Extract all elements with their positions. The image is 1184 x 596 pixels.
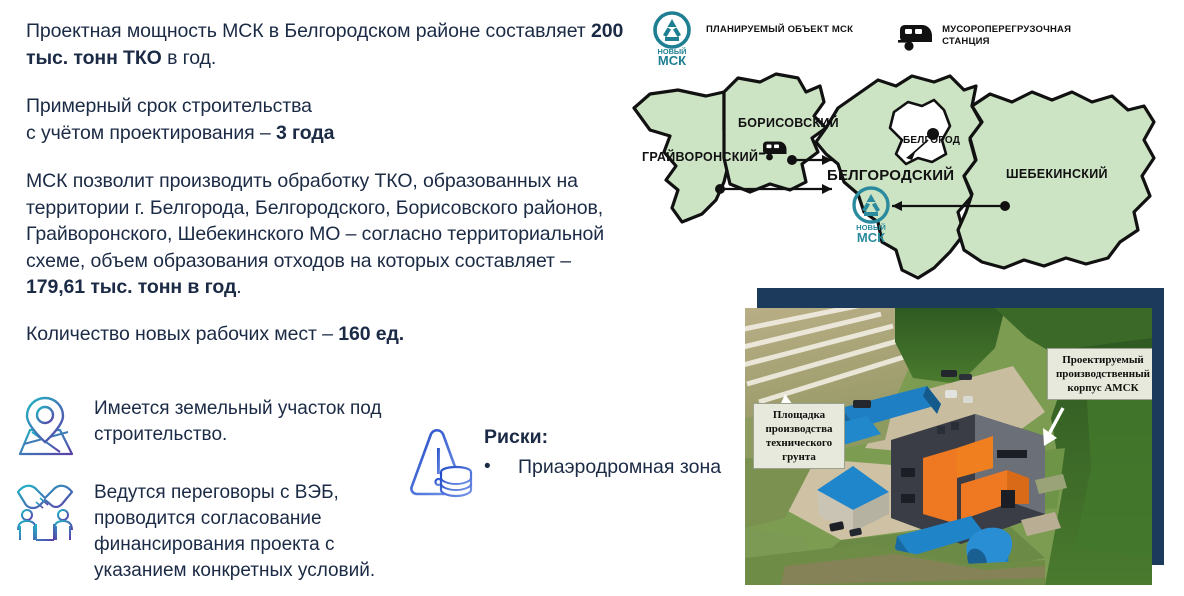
feature-land-plot: Имеется земельный участок под строительс… — [10, 390, 414, 462]
region-map: НОВЫЙ МСК ГРАЙВОРОНСКИЙ БОРИСОВСКИЙ БЕЛГ… — [620, 72, 1182, 297]
risks-title: Риски: — [484, 426, 721, 449]
text-column: Проектная мощность МСК в Белгородском ра… — [26, 18, 626, 347]
timeline-line1: Примерный срок строительства — [26, 95, 312, 117]
legend-entry-station: МУСОРОПЕРЕГРУЗОЧНАЯ СТАНЦИЯ — [898, 10, 1071, 54]
slide-canvas: Проектная мощность МСК в Белгородском ра… — [0, 0, 1184, 596]
photo-callout-amsk: Проектируемый производственный корпус АМ… — [1047, 348, 1152, 400]
paragraph-timeline: Примерный срок строительства с учётом пр… — [26, 93, 626, 146]
risks-block: Риски: • Приаэродромная зона — [404, 424, 721, 504]
jobs-text-a: Количество новых рабочих мест – — [26, 323, 338, 345]
handshake-negotiation-icon — [10, 474, 80, 546]
photo-callout-ground: Площадка производства технического грунт… — [753, 403, 845, 469]
coverage-text-a: МСК позволит производить обработку ТКО, … — [26, 170, 604, 272]
jobs-value: 160 ед. — [338, 323, 404, 345]
facility-aerial-photo: Площадка производства технического грунт… — [745, 308, 1152, 585]
map-svg: НОВЫЙ МСК — [620, 72, 1182, 297]
map-label-belgorodsky: БЕЛГОРОДСКИЙ — [827, 167, 954, 184]
risks-body: Риски: • Приаэродромная зона — [484, 424, 721, 479]
map-legend: НОВЫЙ МСК ПЛАНИРУЕМЫЙ ОБЪЕКТ МСК МУСОРОП… — [646, 10, 1071, 66]
map-label-borisovsky: БОРИСОВСКИЙ — [738, 116, 839, 130]
capacity-text-a: Проектная мощность МСК в Белгородском ра… — [26, 20, 591, 42]
legend-label-msk: ПЛАНИРУЕМЫЙ ОБЪЕКТ МСК — [706, 10, 853, 36]
msk-badge-bottom: МСК — [857, 230, 885, 245]
coverage-text-c: . — [236, 276, 241, 298]
paragraph-capacity: Проектная мощность МСК в Белгородском ра… — [26, 18, 626, 71]
district-shape-borisovsky — [724, 74, 826, 192]
map-label-belgorod-city: БЕЛГОРОД — [903, 135, 960, 146]
feature-financing-label: Ведутся переговоры с ВЭБ, проводится сог… — [94, 474, 424, 584]
paragraph-jobs: Количество новых рабочих мест – 160 ед. — [26, 321, 626, 348]
paragraph-coverage: МСК позволит производить обработку ТКО, … — [26, 168, 626, 301]
risk-bullet-icon: • — [484, 455, 518, 479]
legend-entry-msk: НОВЫЙ МСК ПЛАНИРУЕМЫЙ ОБЪЕКТ МСК — [646, 10, 853, 66]
city-shape-belgorod — [890, 100, 950, 164]
legend-label-station: МУСОРОПЕРЕГРУЗОЧНАЯ СТАНЦИЯ — [942, 10, 1071, 48]
risk-item-label: Приаэродромная зона — [518, 455, 721, 479]
map-label-shebekinsky: ШЕБЕКИНСКИЙ — [1006, 167, 1108, 181]
coverage-value: 179,61 тыс. тонн в год — [26, 276, 236, 298]
legend-badge-bottom: МСК — [658, 53, 686, 66]
warning-triangle-coins-icon — [404, 424, 474, 504]
feature-financing: Ведутся переговоры с ВЭБ, проводится сог… — [10, 474, 424, 584]
map-label-grayvoronsky: ГРАЙВОРОНСКИЙ — [642, 150, 758, 164]
capacity-text-c: в год. — [162, 47, 216, 69]
feature-land-label: Имеется земельный участок под строительс… — [94, 390, 414, 448]
timeline-value: 3 года — [276, 122, 334, 144]
risk-list-item: • Приаэродромная зона — [484, 455, 721, 479]
trailer-icon — [898, 20, 934, 54]
timeline-line2: с учётом проектирования – — [26, 122, 276, 144]
recycling-badge-icon: НОВЫЙ МСК — [646, 10, 698, 66]
map-pin-location-icon — [10, 390, 80, 462]
